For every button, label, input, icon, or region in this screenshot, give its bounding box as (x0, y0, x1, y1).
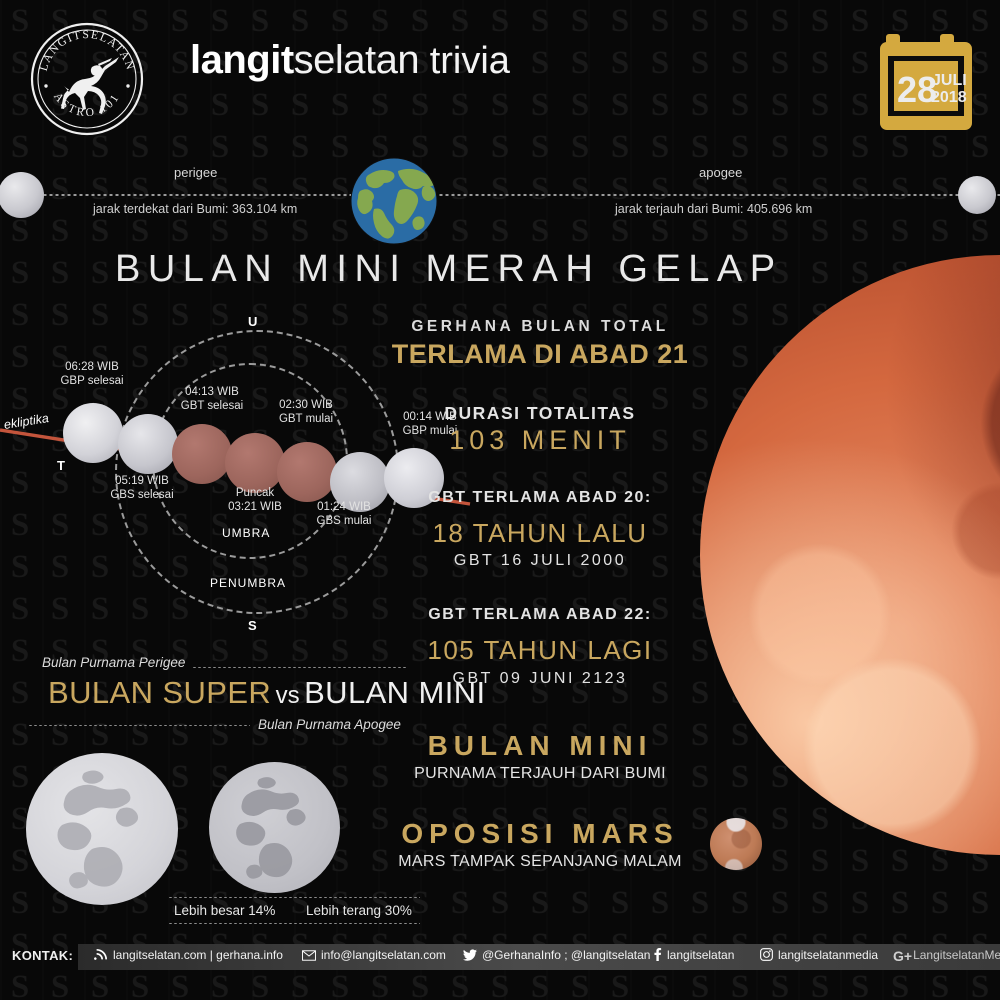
watermark-glyph: S (320, 0, 360, 42)
phase-1-event: GBP selesai (60, 375, 123, 387)
watermark-glyph: S (920, 882, 960, 924)
minimoon-title: BULAN MINI (370, 730, 710, 762)
peak-time: 03:21 WIB (228, 501, 282, 513)
watermark-glyph: S (0, 252, 40, 294)
stat-brightness-label: Lebih terang 30% (306, 903, 412, 918)
watermark-glyph: S (160, 126, 200, 168)
watermark-glyph: S (720, 210, 760, 252)
watermark-glyph: S (360, 0, 400, 42)
watermark-glyph: S (520, 126, 560, 168)
phase-2-time: 05:19 WIB (115, 475, 169, 487)
footer-item-instagram[interactable]: langitselatanmedia (760, 948, 878, 962)
watermark-glyph: S (520, 882, 560, 924)
eclipse-moon-4-peak (225, 433, 285, 493)
calendar-icon: 28 JULI 2018 (880, 30, 978, 135)
watermark-glyph: S (640, 966, 680, 1000)
watermark-row: SSSSSSSSSSSSSSSSSSSSSSSSS (0, 0, 1000, 42)
watermark-glyph: S (680, 126, 720, 168)
watermark-glyph: S (240, 126, 280, 168)
umbra-label: UMBRA (222, 526, 270, 540)
watermark-glyph: S (200, 0, 240, 42)
compass-north: U (248, 314, 258, 329)
calendar-year: 2018 (931, 89, 967, 106)
watermark-glyph: S (400, 84, 440, 126)
watermark-row: SSSSSSSSSSSSSSSSSSSSSSSSS (0, 966, 1000, 1000)
watermark-glyph: S (760, 0, 800, 42)
page-title: langitselatan trivia (190, 38, 510, 83)
watermark-glyph: S (520, 84, 560, 126)
phase-1-time: 06:28 WIB (65, 361, 119, 373)
watermark-glyph: S (560, 882, 600, 924)
watermark-glyph: S (480, 882, 520, 924)
stat-size-label: Lebih besar 14% (174, 903, 275, 918)
watermark-glyph: S (640, 84, 680, 126)
watermark-glyph: S (720, 882, 760, 924)
watermark-glyph: S (80, 966, 120, 1000)
comparison-title-vs: vs (276, 682, 300, 709)
footer-email-text: info@langitselatan.com (321, 948, 446, 962)
watermark-glyph: S (240, 966, 280, 1000)
infographic-root: SSSSSSSSSSSSSSSSSSSSSSSSSSSSSSSSSSSSSSSS… (0, 0, 1000, 1000)
watermark-glyph: S (600, 966, 640, 1000)
watermark-glyph: S (240, 210, 280, 252)
watermark-glyph: S (640, 126, 680, 168)
watermark-glyph: S (480, 0, 520, 42)
watermark-glyph: S (240, 84, 280, 126)
title-bold: langit (190, 38, 294, 82)
watermark-glyph: S (800, 0, 840, 42)
watermark-glyph: S (560, 0, 600, 42)
watermark-glyph: S (720, 84, 760, 126)
watermark-glyph: S (80, 210, 120, 252)
twitter-icon (463, 949, 477, 961)
watermark-glyph: S (280, 84, 320, 126)
mini-moon-maria (209, 762, 340, 893)
footer-item-facebook[interactable]: langitselatan (653, 948, 734, 962)
watermark-glyph: S (880, 882, 920, 924)
watermark-glyph: S (440, 0, 480, 42)
watermark-glyph: S (680, 882, 720, 924)
watermark-glyph: S (0, 966, 40, 1000)
watermark-glyph: S (200, 210, 240, 252)
phase-annotation-4: 02:30 WIB GBT mulai (256, 398, 356, 426)
watermark-row: SSSSSSSSSSSSSSSSSSSSSSSSS (0, 84, 1000, 126)
compass-south: S (248, 618, 258, 633)
watermark-glyph: S (840, 168, 880, 210)
watermark-glyph: S (560, 42, 600, 84)
watermark-glyph: S (320, 84, 360, 126)
watermark-glyph: S (480, 210, 520, 252)
fact-headline-small: GERHANA BULAN TOTAL (370, 318, 710, 336)
watermark-glyph: S (600, 42, 640, 84)
watermark-glyph: S (800, 126, 840, 168)
watermark-glyph: S (920, 966, 960, 1000)
comparison-title-gold: BULAN SUPER (48, 675, 271, 710)
super-vs-mini-section: Bulan Purnama Perigee BULAN SUPER vs BUL… (20, 655, 420, 930)
watermark-glyph: S (280, 0, 320, 42)
compass-west: T (57, 458, 66, 473)
phase-annotation-2: 05:19 WIB GBS selesai (92, 474, 192, 502)
watermark-glyph: S (520, 966, 560, 1000)
watermark-glyph: S (720, 966, 760, 1000)
watermark-glyph: S (720, 0, 760, 42)
watermark-glyph: S (760, 882, 800, 924)
watermark-glyph: S (280, 126, 320, 168)
apogee-label: apogee (699, 165, 742, 180)
watermark-row: SSSSSSSSSSSSSSSSSSSSSSSSS (0, 210, 1000, 252)
perigee-caption: Bulan Purnama Perigee (42, 655, 185, 670)
phase-2-event: GBS selesai (110, 489, 173, 501)
main-headline: BULAN MINI MERAH GELAP (115, 248, 783, 291)
title-tail: trivia (419, 40, 510, 82)
watermark-glyph: S (560, 126, 600, 168)
googleplus-icon: G+ (893, 948, 912, 964)
watermark-glyph: S (480, 84, 520, 126)
phase-5-event: GBS mulai (317, 515, 372, 527)
watermark-glyph: S (680, 84, 720, 126)
perigee-detail: jarak terdekat dari Bumi: 363.104 km (93, 202, 297, 216)
earth-globe (348, 157, 440, 245)
watermark-glyph: S (800, 882, 840, 924)
fact-headline-gold: TERLAMA DI ABAD 21 (370, 339, 710, 370)
watermark-glyph: S (40, 168, 80, 210)
watermark-glyph: S (680, 210, 720, 252)
stats-rule-top (168, 897, 420, 898)
watermark-glyph: S (280, 966, 320, 1000)
mars-planet-graphic (710, 818, 762, 870)
watermark-glyph: S (240, 0, 280, 42)
watermark-glyph: S (600, 0, 640, 42)
watermark-glyph: S (840, 882, 880, 924)
orbit-dotted-line (0, 194, 1000, 196)
century22-value: 105 TAHUN LAGI (370, 635, 710, 666)
watermark-glyph: S (800, 42, 840, 84)
watermark-glyph: S (800, 84, 840, 126)
watermark-glyph: S (440, 966, 480, 1000)
watermark-glyph: S (560, 168, 600, 210)
watermark-glyph: S (560, 966, 600, 1000)
blood-moon-graphic (700, 255, 1000, 875)
watermark-glyph: S (440, 168, 480, 210)
watermark-glyph: S (640, 210, 680, 252)
minimoon-subtitle: PURNAMA TERJAUH DARI BUMI (370, 765, 710, 783)
watermark-glyph: S (600, 126, 640, 168)
watermark-glyph: S (120, 210, 160, 252)
watermark-glyph: S (840, 0, 880, 42)
watermark-glyph: S (880, 210, 920, 252)
watermark-glyph: S (680, 0, 720, 42)
watermark-glyph: S (160, 210, 200, 252)
comparison-title: BULAN SUPER vs BULAN MINI (48, 675, 486, 711)
watermark-glyph: S (120, 966, 160, 1000)
watermark-glyph: S (40, 252, 80, 294)
watermark-glyph: S (640, 42, 680, 84)
watermark-glyph: S (360, 966, 400, 1000)
watermark-glyph: S (520, 0, 560, 42)
watermark-glyph: S (520, 42, 560, 84)
watermark-glyph: S (880, 966, 920, 1000)
email-icon (302, 950, 316, 961)
watermark-glyph: S (80, 252, 120, 294)
peak-label: Puncak (236, 487, 274, 499)
watermark-glyph: S (960, 882, 1000, 924)
watermark-glyph: S (480, 168, 520, 210)
facebook-icon (653, 948, 662, 961)
watermark-glyph: S (800, 210, 840, 252)
title-light: selatan (294, 38, 419, 82)
watermark-glyph: S (40, 210, 80, 252)
caption-rule-bottom (28, 725, 250, 726)
rss-icon (95, 948, 108, 961)
watermark-glyph: S (400, 0, 440, 42)
watermark-glyph: S (840, 84, 880, 126)
watermark-glyph: S (40, 966, 80, 1000)
footer-facebook-text: langitselatan (667, 948, 734, 962)
watermark-glyph: S (760, 84, 800, 126)
phase-3-time: 04:13 WIB (185, 386, 239, 398)
phase-5-time: 01:24 WIB (317, 501, 371, 513)
watermark-glyph: S (600, 210, 640, 252)
watermark-glyph: S (360, 84, 400, 126)
footer-item-twitter[interactable]: @GerhanaInfo ; @langitselatan (463, 948, 650, 962)
watermark-glyph: S (200, 126, 240, 168)
watermark-glyph: S (880, 168, 920, 210)
century22-label: GBT TERLAMA ABAD 22: (370, 606, 710, 624)
apogee-detail: jarak terjauh dari Bumi: 405.696 km (615, 202, 812, 216)
century20-label: GBT TERLAMA ABAD 20: (370, 489, 710, 507)
perigee-moon (0, 172, 44, 218)
caption-rule-top (192, 667, 406, 668)
watermark-glyph: S (200, 84, 240, 126)
watermark-glyph: S (440, 126, 480, 168)
watermark-glyph: S (560, 84, 600, 126)
phase-3-event: GBT selesai (181, 400, 243, 412)
eclipse-moon-1 (63, 403, 123, 463)
watermark-glyph: S (800, 966, 840, 1000)
watermark-glyph: S (640, 882, 680, 924)
watermark-glyph: S (400, 966, 440, 1000)
footer-instagram-text: langitselatanmedia (778, 948, 878, 962)
penumbra-label: PENUMBRA (210, 576, 286, 590)
watermark-glyph: S (760, 126, 800, 168)
watermark-glyph: S (960, 210, 1000, 252)
watermark-glyph: S (480, 966, 520, 1000)
footer-twitter-text: @GerhanaInfo ; @langitselatan (482, 948, 650, 962)
watermark-glyph: S (840, 42, 880, 84)
phase-annotation-1: 06:28 WIB GBP selesai (42, 360, 142, 388)
phase-4-event: GBT mulai (279, 413, 333, 425)
watermark-glyph: S (840, 966, 880, 1000)
watermark-glyph: S (520, 210, 560, 252)
watermark-glyph: S (720, 42, 760, 84)
footer-item-email[interactable]: info@langitselatan.com (302, 948, 446, 962)
watermark-glyph: S (760, 42, 800, 84)
watermark-glyph: S (520, 168, 560, 210)
footer-website-text: langitselatan.com | gerhana.info (113, 948, 283, 962)
phase-annotation-3: 04:13 WIB GBT selesai (162, 385, 262, 413)
perigee-label: perigee (174, 165, 217, 180)
watermark-glyph: S (440, 84, 480, 126)
phase-4-time: 02:30 WIB (279, 399, 333, 411)
watermark-glyph: S (560, 210, 600, 252)
stats-rule-bottom (168, 923, 420, 924)
watermark-glyph: S (440, 210, 480, 252)
instagram-icon (760, 948, 773, 961)
langitselatan-logo: LANGITSELATAN ASTRO 101 (28, 20, 146, 138)
watermark-glyph: S (840, 210, 880, 252)
calendar-month: JULI (932, 72, 967, 89)
watermark-glyph: S (600, 84, 640, 126)
watermark-glyph: S (440, 882, 480, 924)
footer-googleplus-text: LangitselatanMedia (913, 948, 1000, 962)
watermark-glyph: S (480, 126, 520, 168)
watermark-glyph: S (680, 966, 720, 1000)
comparison-title-white: BULAN MINI (304, 675, 485, 710)
watermark-glyph: S (760, 210, 800, 252)
watermark-glyph: S (320, 966, 360, 1000)
apogee-moon (958, 176, 996, 214)
duration-label: DURASI TOTALITAS (370, 403, 710, 424)
watermark-glyph: S (280, 210, 320, 252)
watermark-glyph: S (640, 0, 680, 42)
watermark-glyph: S (920, 168, 960, 210)
peak-annotation: Puncak 03:21 WIB (205, 486, 305, 514)
super-moon-maria (26, 753, 178, 905)
watermark-glyph: S (960, 966, 1000, 1000)
apogee-caption: Bulan Purnama Apogee (258, 717, 401, 732)
watermark-glyph: S (720, 126, 760, 168)
watermark-glyph: S (200, 966, 240, 1000)
mars-subtitle: MARS TAMPAK SEPANJANG MALAM (370, 853, 710, 871)
watermark-glyph: S (600, 882, 640, 924)
footer-item-googleplus[interactable]: G+LangitselatanMedia (893, 948, 1000, 964)
watermark-row: SSSSSSSSSSSSSSSSSSSSSSSSS (0, 126, 1000, 168)
duration-value: 103 MENIT (370, 425, 710, 456)
watermark-glyph: S (160, 84, 200, 126)
footer-item-website[interactable]: langitselatan.com | gerhana.info (95, 948, 283, 962)
century20-value: 18 TAHUN LALU (370, 518, 710, 549)
watermark-glyph: S (920, 210, 960, 252)
eclipse-moon-2 (118, 414, 178, 474)
century20-detail: GBT 16 JULI 2000 (370, 552, 710, 570)
watermark-glyph: S (840, 126, 880, 168)
watermark-glyph: S (760, 966, 800, 1000)
mars-title: OPOSISI MARS (370, 818, 710, 850)
watermark-glyph: S (680, 42, 720, 84)
watermark-glyph: S (160, 966, 200, 1000)
watermark-glyph: S (160, 0, 200, 42)
footer-contact-bar: KONTAK: langitselatan.com | gerhana.info… (0, 944, 1000, 970)
kontak-label: KONTAK: (12, 948, 73, 963)
